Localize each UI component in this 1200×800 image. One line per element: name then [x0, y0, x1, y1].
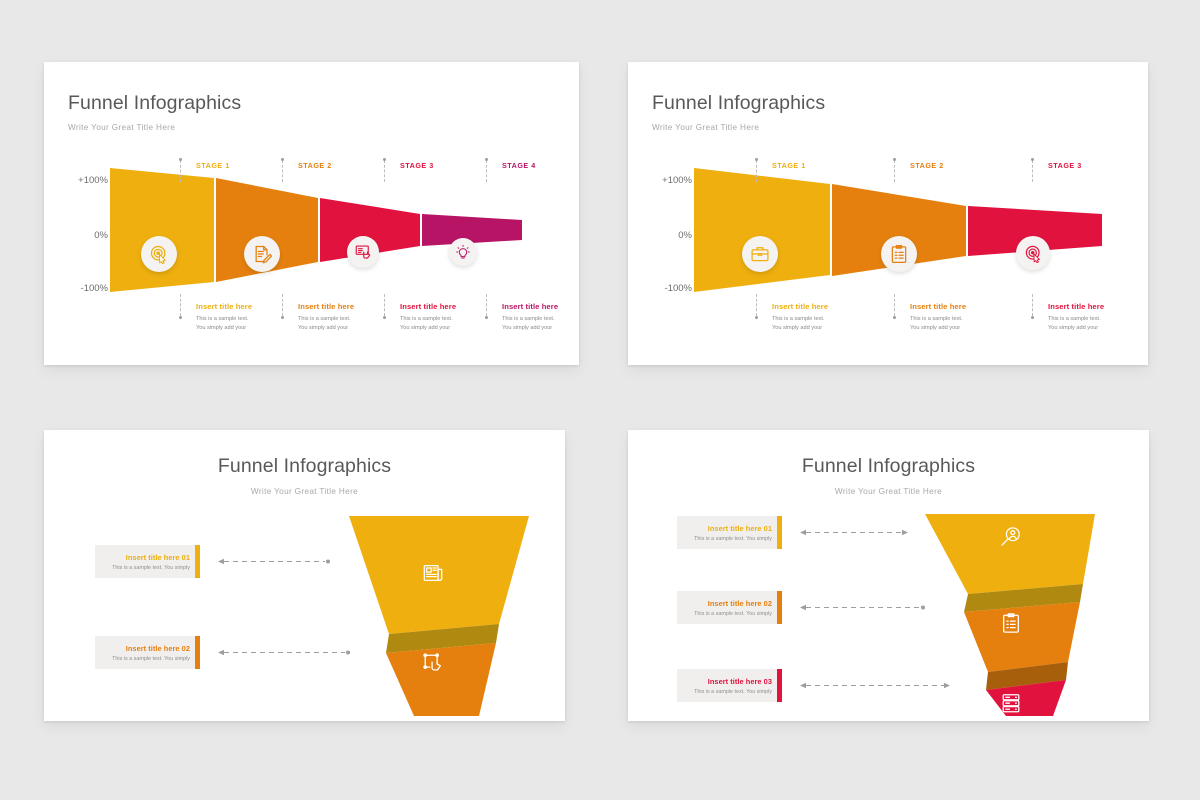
tick-line-2 [282, 160, 283, 182]
caption-title-3: Insert title here [1048, 302, 1140, 311]
callout-2[interactable]: Insert title here 02 This is a sample te… [677, 591, 782, 624]
callout-body-2: This is a sample text. You simply [685, 611, 772, 617]
stage-label-2: STAGE 2 [910, 161, 944, 170]
tick-line-3 [1032, 160, 1033, 182]
caption-body-3: This is a sample text. You simply add yo… [1048, 315, 1140, 333]
tick-dot-5 [179, 316, 182, 319]
callout-accent-bar-2 [777, 591, 782, 624]
hand-select-icon[interactable] [422, 652, 444, 674]
page-title: Funnel Infographics [68, 92, 241, 115]
tick-dot-2 [281, 158, 284, 161]
caption-title-3: Insert title here [400, 302, 492, 311]
tick-dot-2 [893, 158, 896, 161]
tick-dot-1 [755, 158, 758, 161]
tick-line-1 [756, 160, 757, 182]
connector-arrow-2 [217, 649, 352, 656]
funnel-slice-2 [964, 602, 1080, 672]
caption-body-3: This is a sample text. You simply add yo… [400, 315, 492, 333]
page-title: Funnel Infographics [44, 455, 565, 478]
callout-body-2: This is a sample text. You simply [103, 656, 190, 662]
caption-body-4: This is a sample text. You simply add yo… [502, 315, 594, 333]
slide-panel-4[interactable]: Funnel Infographics Write Your Great Tit… [628, 430, 1149, 721]
document-edit-icon[interactable] [244, 236, 280, 272]
slide-panel-1[interactable]: Funnel Infographics Write Your Great Tit… [44, 62, 579, 365]
callout-title-2: Insert title here 02 [685, 599, 772, 608]
caption-title-2: Insert title here [910, 302, 1002, 311]
funnel-segment-1[interactable] [110, 168, 214, 292]
tick-dot-3 [383, 158, 386, 161]
stage-label-4: STAGE 4 [502, 161, 536, 170]
caption-body-1: This is a sample text. You simply add yo… [772, 315, 864, 333]
tick-line-1 [180, 160, 181, 182]
tick-dot-3 [1031, 158, 1034, 161]
callout-body-1: This is a sample text. You simply [685, 536, 772, 542]
callout-title-1: Insert title here 01 [103, 553, 190, 562]
page-subtitle: Write Your Great Title Here [44, 487, 565, 496]
vertical-funnel-graphic[interactable] [344, 516, 534, 721]
caption-4[interactable]: Insert title here This is a sample text.… [502, 302, 594, 333]
tick-line-6 [282, 294, 283, 316]
funnel-segment-1[interactable] [694, 168, 830, 292]
callout-title-1: Insert title here 01 [685, 524, 772, 533]
newspaper-icon[interactable] [422, 562, 444, 584]
callout-body-3: This is a sample text. You simply [685, 689, 772, 695]
slide4-header: Funnel Infographics Write Your Great Tit… [628, 455, 1149, 496]
slide-panel-3[interactable]: Funnel Infographics Write Your Great Tit… [44, 430, 565, 721]
page-title: Funnel Infographics [652, 92, 825, 115]
stage-label-2: STAGE 2 [298, 161, 332, 170]
callout-1[interactable]: Insert title here 01 This is a sample te… [677, 516, 782, 549]
callout-3[interactable]: Insert title here 03 This is a sample te… [677, 669, 782, 702]
server-stack-icon[interactable] [1000, 692, 1022, 714]
clipboard-list-icon[interactable] [881, 236, 917, 272]
slide-panel-2[interactable]: Funnel Infographics Write Your Great Tit… [628, 62, 1148, 365]
page-subtitle: Write Your Great Title Here [652, 123, 825, 132]
axis-label-top: +100% [78, 175, 108, 186]
callout-title-2: Insert title here 02 [103, 644, 190, 653]
page-title: Funnel Infographics [628, 455, 1149, 478]
slide-deck-canvas: Funnel Infographics Write Your Great Tit… [0, 0, 1200, 800]
page-subtitle: Write Your Great Title Here [628, 487, 1149, 496]
caption-title-1: Insert title here [772, 302, 864, 311]
briefcase-icon[interactable] [742, 236, 778, 272]
caption-body-2: This is a sample text. You simply add yo… [298, 315, 390, 333]
tick-dot-4 [485, 158, 488, 161]
slide1-header: Funnel Infographics Write Your Great Tit… [68, 92, 241, 132]
clipboard-checklist-icon[interactable] [1000, 612, 1022, 634]
caption-body-2: This is a sample text. You simply add yo… [910, 315, 1002, 333]
caption-3[interactable]: Insert title here This is a sample text.… [400, 302, 492, 333]
axis-label-bottom: -100% [665, 283, 692, 294]
axis-label-top: +100% [662, 175, 692, 186]
tick-line-7 [384, 294, 385, 316]
axis-label-bottom: -100% [81, 283, 108, 294]
caption-body-1: This is a sample text. You simply add yo… [196, 315, 288, 333]
lightbulb-idea-icon[interactable] [449, 238, 477, 266]
tick-line-2 [894, 160, 895, 182]
caption-title-1: Insert title here [196, 302, 288, 311]
page-subtitle: Write Your Great Title Here [68, 123, 241, 132]
tick-dot-6 [1031, 316, 1034, 319]
tick-dot-7 [383, 316, 386, 319]
tick-line-6 [1032, 294, 1033, 316]
caption-title-2: Insert title here [298, 302, 390, 311]
search-user-icon[interactable] [1000, 526, 1022, 548]
connector-arrow-3 [799, 682, 951, 689]
tick-line-4 [486, 160, 487, 182]
caption-1[interactable]: Insert title here This is a sample text.… [196, 302, 288, 333]
tick-dot-8 [485, 316, 488, 319]
tick-line-8 [486, 294, 487, 316]
tick-dot-4 [755, 316, 758, 319]
tick-line-5 [894, 294, 895, 316]
stage-label-3: STAGE 3 [1048, 161, 1082, 170]
callout-body-1: This is a sample text. You simply [103, 565, 190, 571]
tick-dot-5 [893, 316, 896, 319]
hand-tap-screen-icon[interactable] [347, 236, 379, 268]
stage-label-1: STAGE 1 [196, 161, 230, 170]
caption-2[interactable]: Insert title here This is a sample text.… [910, 302, 1002, 333]
tick-line-4 [756, 294, 757, 316]
callout-accent-bar-1 [777, 516, 782, 549]
callout-title-3: Insert title here 03 [685, 677, 772, 686]
caption-2[interactable]: Insert title here This is a sample text.… [298, 302, 390, 333]
tick-line-3 [384, 160, 385, 182]
callout-accent-bar-3 [777, 669, 782, 702]
connector-arrow-2 [799, 604, 927, 611]
tick-dot-1 [179, 158, 182, 161]
connector-arrow-1 [799, 529, 909, 536]
slide3-header: Funnel Infographics Write Your Great Tit… [44, 455, 565, 496]
target-cursor-icon[interactable] [141, 236, 177, 272]
slide2-header: Funnel Infographics Write Your Great Tit… [652, 92, 825, 132]
caption-3[interactable]: Insert title here This is a sample text.… [1048, 302, 1140, 333]
stage-label-1: STAGE 1 [772, 161, 806, 170]
caption-title-4: Insert title here [502, 302, 594, 311]
target-cursor-icon[interactable] [1016, 236, 1050, 270]
tick-line-5 [180, 294, 181, 316]
callout-accent-bar-2 [195, 636, 200, 669]
axis-label-middle: 0% [94, 230, 108, 241]
connector-arrow-1 [217, 558, 332, 565]
tick-dot-6 [281, 316, 284, 319]
callout-accent-bar-1 [195, 545, 200, 578]
caption-1[interactable]: Insert title here This is a sample text.… [772, 302, 864, 333]
callout-2[interactable]: Insert title here 02 This is a sample te… [95, 636, 200, 669]
axis-label-middle: 0% [678, 230, 692, 241]
callout-1[interactable]: Insert title here 01 This is a sample te… [95, 545, 200, 578]
stage-label-3: STAGE 3 [400, 161, 434, 170]
